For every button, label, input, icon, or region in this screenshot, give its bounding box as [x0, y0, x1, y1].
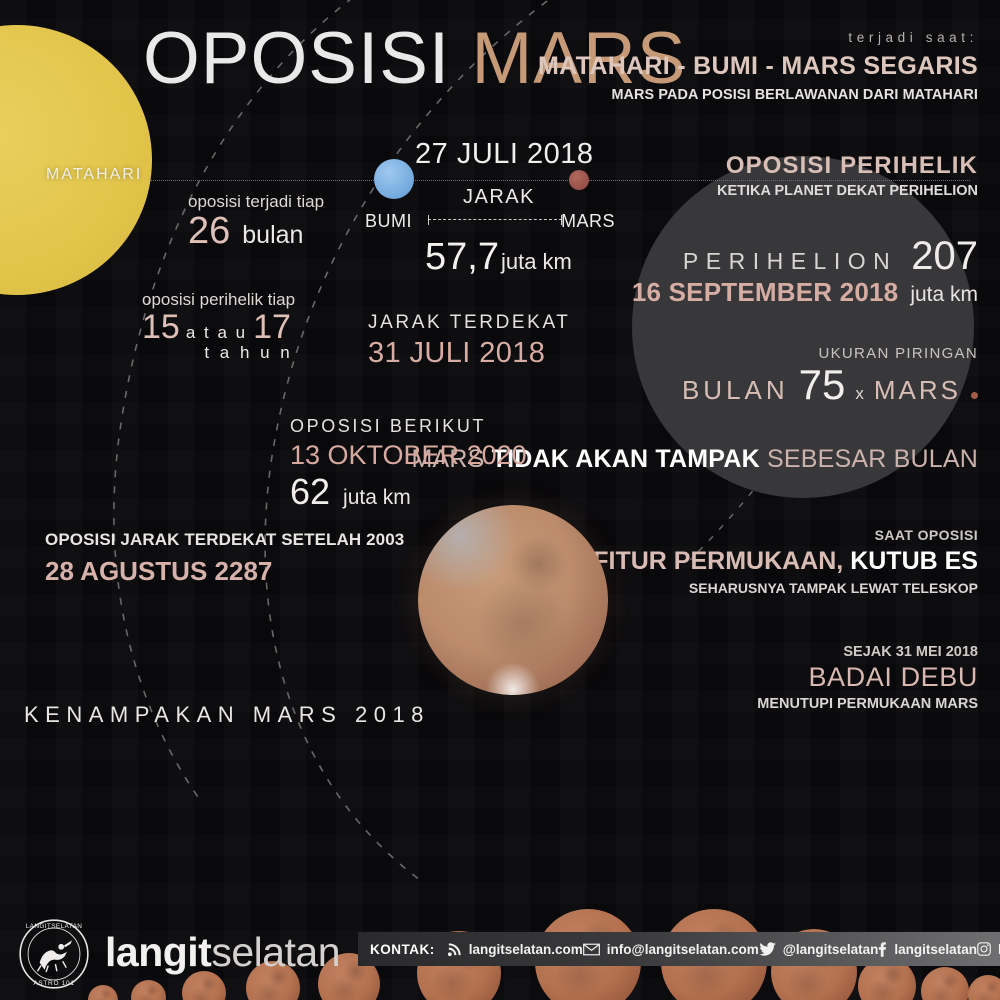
myth-tail: SEBESAR BULAN	[767, 445, 978, 473]
mars-circle	[569, 170, 589, 190]
alignment-callout: terjadi saat: MATAHARI - BUMI - MARS SEG…	[538, 30, 978, 103]
since2003-kicker: OPOSISI JARAK TERDEKAT SETELAH 2003	[45, 530, 404, 550]
perihelion-date: 16 SEPTEMBER 2018	[632, 277, 898, 308]
interval-kicker: oposisi terjadi tiap	[188, 192, 324, 212]
alignment-headline: MATAHARI - BUMI - MARS SEGARIS	[538, 52, 978, 81]
surface-kicker: SAAT OPOSISI	[593, 527, 978, 543]
surface-features-block: SAAT OPOSISI FITUR PERMUKAAN, KUTUB ES S…	[593, 527, 978, 596]
contact-instagram[interactable]: langitselatanmedia	[977, 942, 1000, 957]
surface-main-part1: FITUR PERMUKAAN,	[593, 547, 843, 575]
size-factor-value: 75	[799, 366, 846, 404]
disk-size-block: UKURAN PIRINGAN BULAN 75 x MARS	[682, 345, 978, 406]
perihelion-distance-value: 207	[911, 238, 978, 274]
contact-facebook[interactable]: langitselatan	[878, 942, 977, 957]
distance-unit: juta km	[501, 249, 572, 275]
dust-storm-block: SEJAK 31 MEI 2018 BADAI DEBU MENUTUPI PE…	[757, 644, 978, 712]
since2003-date: 28 AGUSTUS 2287	[45, 556, 404, 587]
contact-twitter-text: @langitselatan	[783, 942, 879, 957]
perihelic-value-2: 17	[253, 308, 291, 347]
instagram-icon	[977, 942, 991, 956]
perihelic-value-1: 15	[142, 308, 180, 347]
appearance-heading: KENAMPAKAN MARS 2018	[24, 702, 430, 728]
langitselatan-logo-icon: LANGITSELATAN ASTRO 101	[18, 918, 90, 990]
brand-wordmark: langitselatan	[105, 932, 340, 973]
wordmark-bold: langit	[105, 929, 211, 975]
mars-photo-disk	[418, 505, 608, 695]
perihelic-interval-kicker: oposisi perihelik tiap	[142, 290, 295, 310]
times-symbol: x	[855, 384, 864, 404]
next-date: 13 OKTOBER 2020	[290, 440, 527, 471]
closest-date: 31 JULI 2018	[368, 337, 571, 370]
contact-facebook-text: langitselatan	[894, 942, 977, 957]
next-opposition-block: OPOSISI BERIKUT 13 OKTOBER 2020 62 juta …	[290, 416, 527, 513]
twitter-icon	[759, 942, 776, 956]
contact-email-text: info@langitselatan.com	[607, 942, 759, 957]
contact-twitter[interactable]: @langitselatan	[759, 942, 879, 957]
next-kicker: OPOSISI BERIKUT	[290, 416, 527, 437]
distance-value: 57,7	[425, 236, 499, 279]
dust-main: BADAI DEBU	[757, 662, 978, 693]
wordmark-light: selatan	[211, 929, 340, 975]
contact-website-text: langitselatan.com	[469, 942, 583, 957]
mars-size-timeline: JANFEBMARAPRMEIJUNJULAGTSEPOKTNOVDESJAN	[40, 760, 970, 910]
surface-main-part2: KUTUB ES	[850, 547, 978, 575]
interval-value: 26	[188, 210, 230, 253]
perihelion-block: PERIHELION 207 16 SEPTEMBER 2018 juta km	[632, 238, 978, 308]
envelope-icon	[583, 943, 600, 956]
contact-label: KONTAK:	[358, 942, 447, 957]
disk-size-kicker: UKURAN PIRINGAN	[682, 345, 978, 362]
earth-circle	[374, 159, 414, 199]
perihelic-opposition-block: OPOSISI PERIHELIK KETIKA PLANET DEKAT PE…	[717, 152, 978, 199]
next-distance-value: 62	[290, 471, 330, 513]
mars-scale-dot-icon	[971, 392, 978, 399]
logo-top-text: LANGITSELATAN	[26, 923, 83, 930]
myth-bold: TIDAK AKAN TAMPAK	[492, 445, 760, 473]
title-part-oposisi: OPOSISI	[143, 18, 450, 99]
contact-bar: KONTAK: langitselatan.com info@langitsel…	[358, 932, 1000, 966]
earth-label: BUMI	[365, 211, 412, 232]
opposition-interval-block: oposisi terjadi tiap 26 bulan	[188, 192, 324, 253]
mars-label-size: MARS	[874, 375, 961, 406]
facebook-icon	[878, 942, 887, 957]
surface-sub: SEHARUSNYA TAMPAK LEWAT TELESKOP	[593, 580, 978, 596]
distance-value-block: 57,7 juta km	[425, 236, 572, 279]
interval-unit: bulan	[242, 221, 303, 250]
moon-label: BULAN	[682, 375, 789, 406]
alignment-kicker: terjadi saat:	[538, 30, 978, 45]
alignment-sub: MARS PADA POSISI BERLAWANAN DARI MATAHAR…	[538, 87, 978, 103]
sun-label: MATAHARI	[46, 166, 142, 184]
perihelic-interval-block: oposisi perihelik tiap 15 a t a u 17 t a…	[142, 290, 295, 363]
distance-measure-bar	[428, 219, 562, 220]
infographic-poster: MATAHARI OPOSISI MARS terjadi saat: MATA…	[0, 0, 1000, 1000]
perihelion-word: PERIHELION	[683, 248, 897, 275]
logo-bottom-text: ASTRO 101	[33, 980, 74, 987]
mars-label: MARS	[561, 211, 615, 232]
perihelic-heading: OPOSISI PERIHELIK	[717, 152, 978, 180]
earth-orbit-arc	[114, 0, 392, 800]
dust-kicker: SEJAK 31 MEI 2018	[757, 644, 978, 660]
closest-approach-block: JARAK TERDEKAT 31 JULI 2018	[368, 312, 571, 370]
closest-kicker: JARAK TERDEKAT	[368, 312, 571, 334]
perihelic-sub: KETIKA PLANET DEKAT PERIHELION	[717, 183, 978, 199]
perihelic-conjunction: a t a u	[186, 323, 247, 343]
rss-icon	[447, 942, 462, 957]
next-distance-unit: juta km	[343, 486, 411, 510]
contact-website[interactable]: langitselatan.com	[447, 942, 583, 957]
closest-since-2003-block: OPOSISI JARAK TERDEKAT SETELAH 2003 28 A…	[45, 530, 404, 587]
perihelion-distance-unit: juta km	[910, 283, 978, 307]
distance-label: JARAK	[463, 186, 535, 209]
dust-sub: MENUTUPI PERMUKAAN MARS	[757, 696, 978, 712]
contact-email[interactable]: info@langitselatan.com	[583, 942, 759, 957]
opposition-date: 27 JULI 2018	[415, 138, 594, 171]
